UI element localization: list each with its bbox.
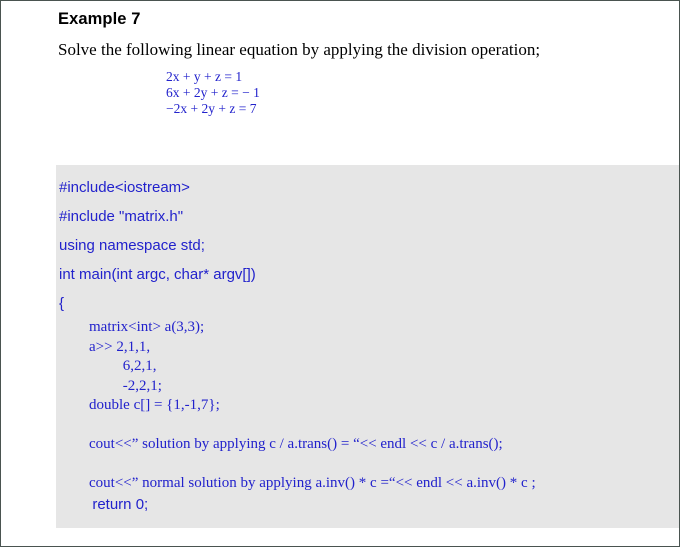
code-line: matrix<int> a(3,3); — [56, 318, 679, 338]
code-line: -2,2,1; — [56, 377, 679, 397]
code-line: #include<iostream> — [56, 173, 679, 202]
code-line — [56, 515, 679, 529]
code-line: #include "matrix.h" — [56, 202, 679, 231]
code-line: int main(int argc, char* argv[]) — [56, 260, 679, 289]
equation-line: 6x + 2y + z = − 1 — [166, 85, 679, 101]
code-line: cout<<” normal solution by applying a.in… — [56, 474, 679, 494]
code-line — [56, 455, 679, 475]
document-page: Example 7 Solve the following linear equ… — [0, 0, 680, 547]
code-block: #include<iostream>#include "matrix.h"usi… — [56, 165, 679, 528]
code-line: cout<<” solution by applying c / a.trans… — [56, 435, 679, 455]
equation-list: 2x + y + z = 1 6x + 2y + z = − 1 −2x + 2… — [58, 69, 679, 117]
code-line: double c[] = {1,-1,7}; — [56, 396, 679, 416]
code-line: return 0; — [56, 494, 679, 515]
code-line: a>> 2,1,1, — [56, 338, 679, 358]
equation-line: 2x + y + z = 1 — [166, 69, 679, 85]
code-line — [56, 416, 679, 436]
code-line: { — [56, 289, 679, 318]
equation-line: −2x + 2y + z = 7 — [166, 101, 679, 117]
code-line: using namespace std; — [56, 231, 679, 260]
code-line: 6,2,1, — [56, 357, 679, 377]
prose-section: Example 7 Solve the following linear equ… — [1, 1, 679, 117]
problem-statement: Solve the following linear equation by a… — [58, 39, 679, 61]
page-title: Example 7 — [58, 9, 679, 30]
